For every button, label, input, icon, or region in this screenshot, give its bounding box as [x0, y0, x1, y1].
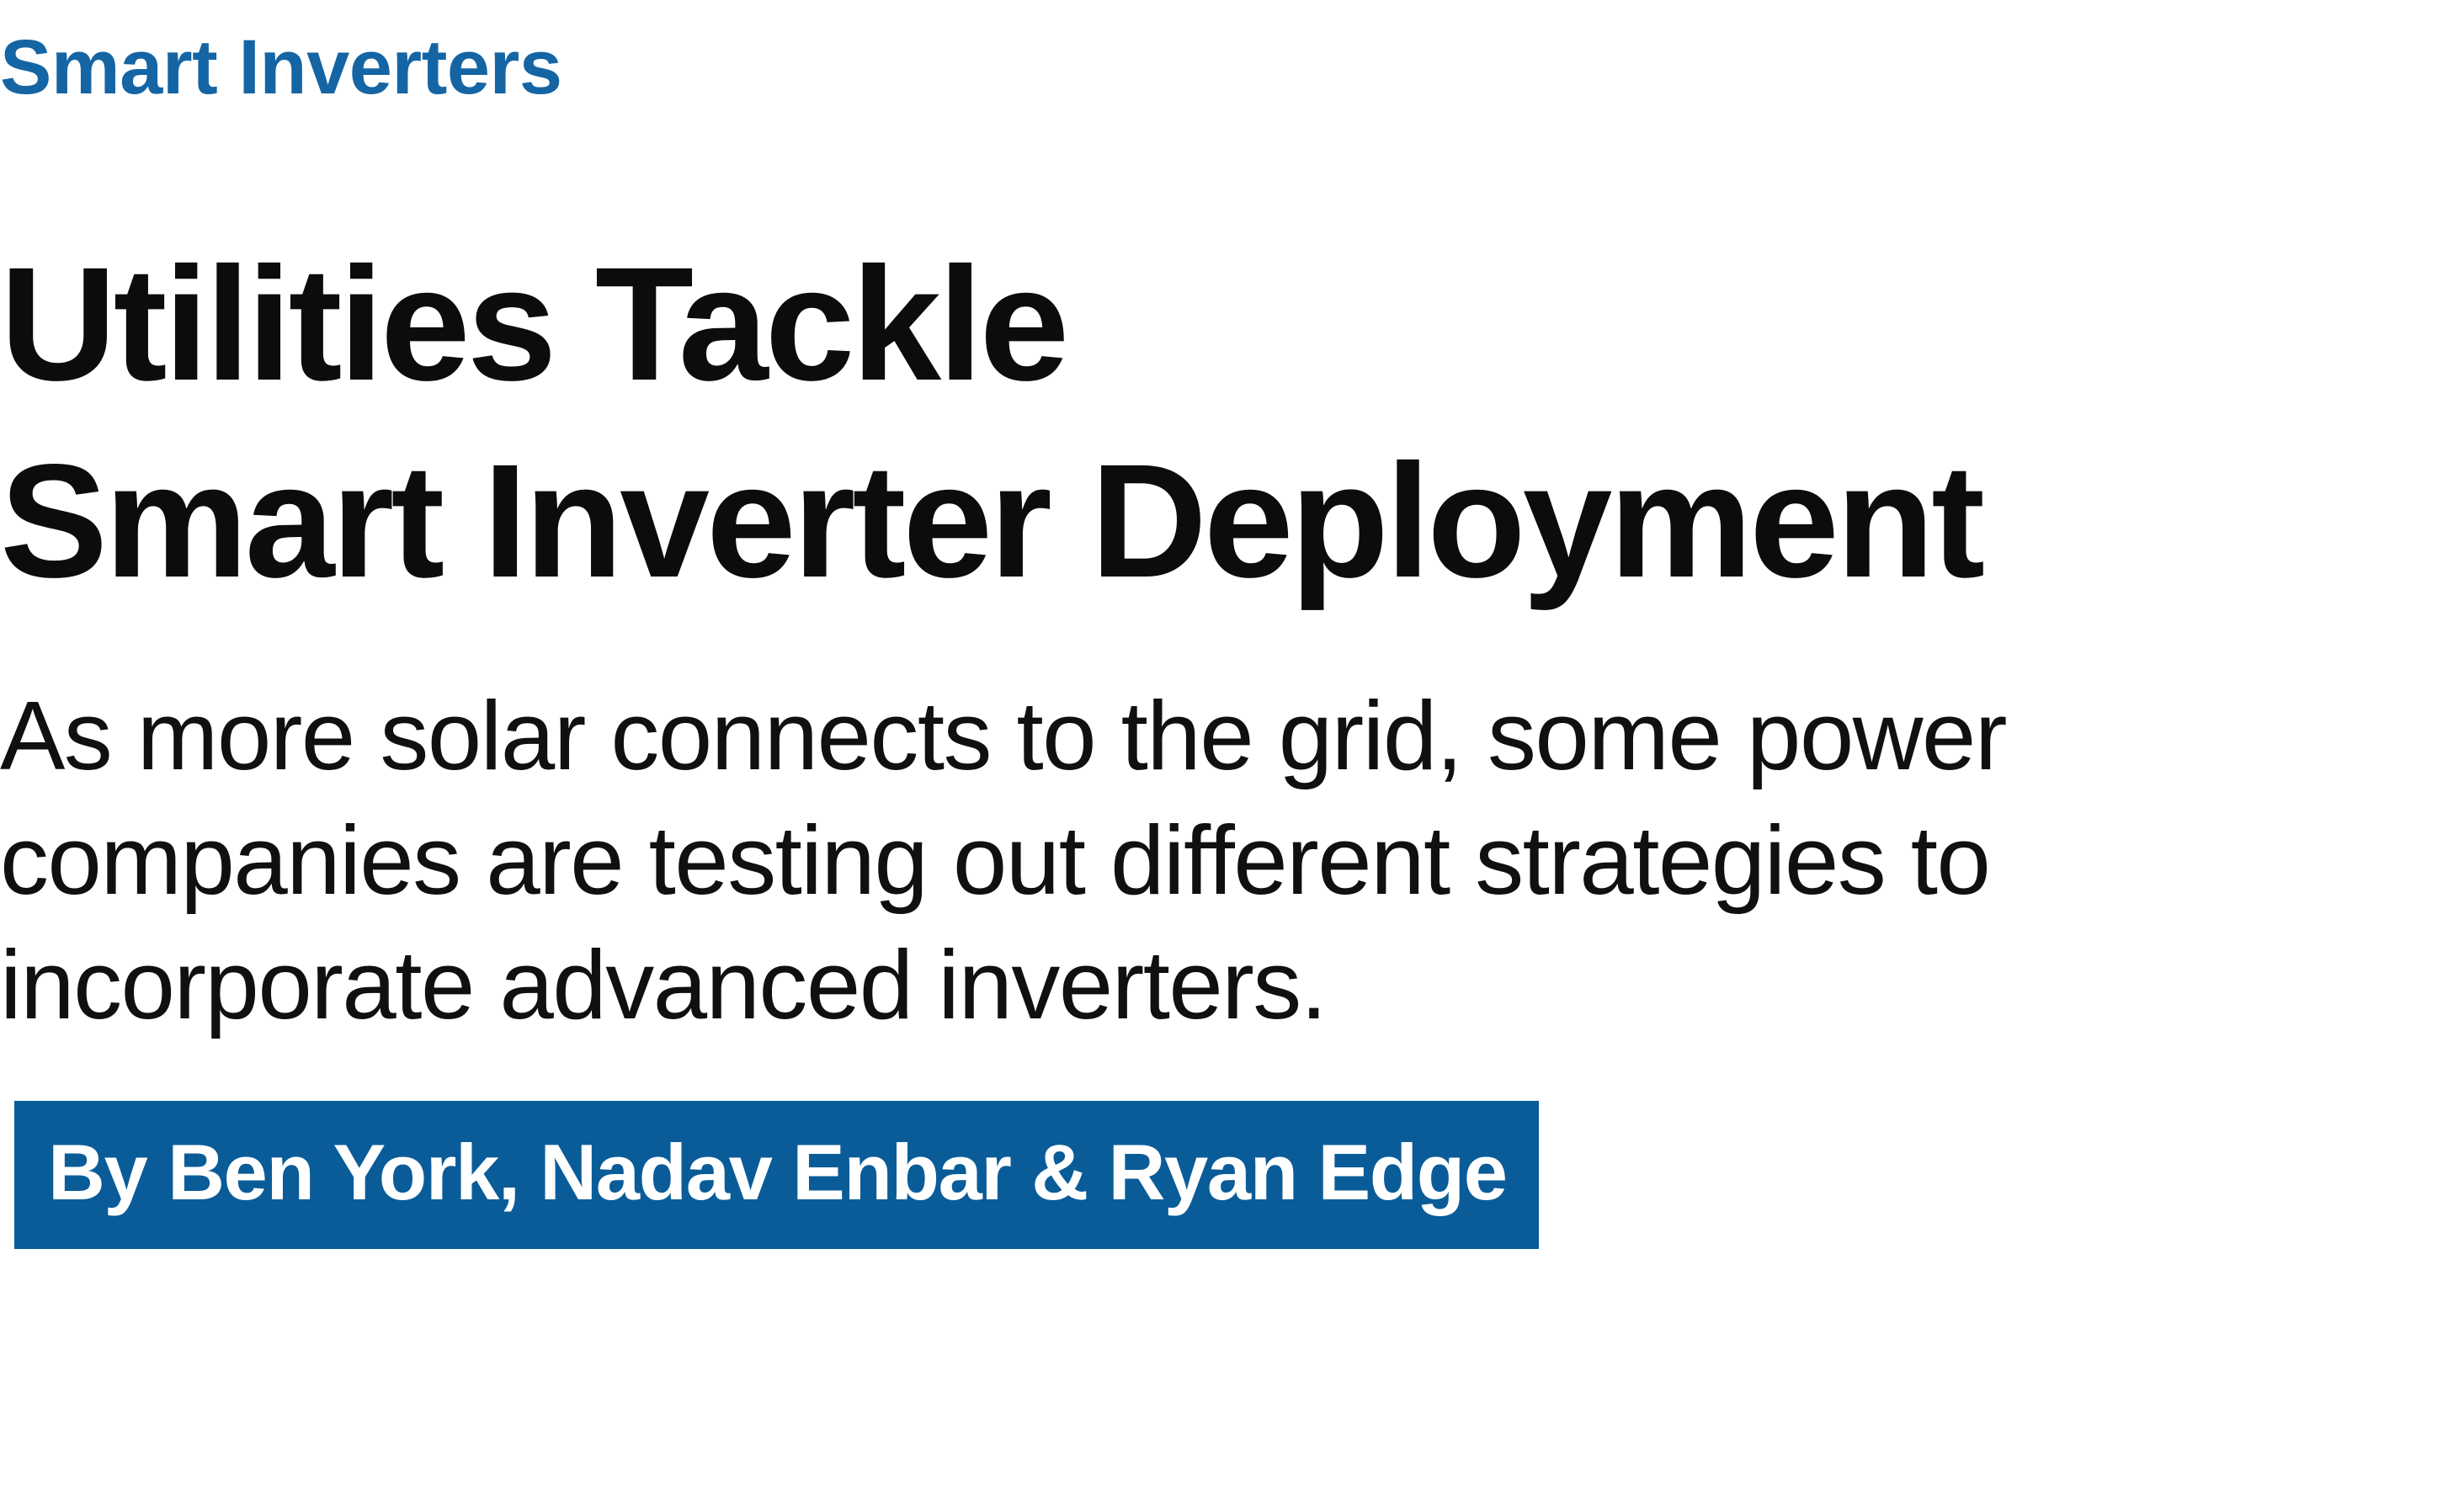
byline-text: By Ben York, Nadav Enbar & Ryan Edge	[48, 1133, 1507, 1212]
deck-line-1: As more solar connects to the grid, some…	[0, 673, 2464, 798]
article-kicker: Smart Inverters	[0, 29, 562, 106]
byline-bar: By Ben York, Nadav Enbar & Ryan Edge	[14, 1101, 1539, 1249]
article-title-page: Smart Inverters Utilities Tackle Smart I…	[0, 0, 2464, 1504]
headline-line-2: Smart Inverter Deployment	[0, 423, 2464, 619]
article-headline: Utilities Tackle Smart Inverter Deployme…	[0, 226, 2464, 619]
deck-line-2: companies are testing out different stra…	[0, 798, 2464, 922]
headline-line-1: Utilities Tackle	[0, 226, 2464, 423]
article-deck: As more solar connects to the grid, some…	[0, 673, 2464, 1047]
deck-line-3: incorporate advanced inverters.	[0, 922, 2464, 1047]
